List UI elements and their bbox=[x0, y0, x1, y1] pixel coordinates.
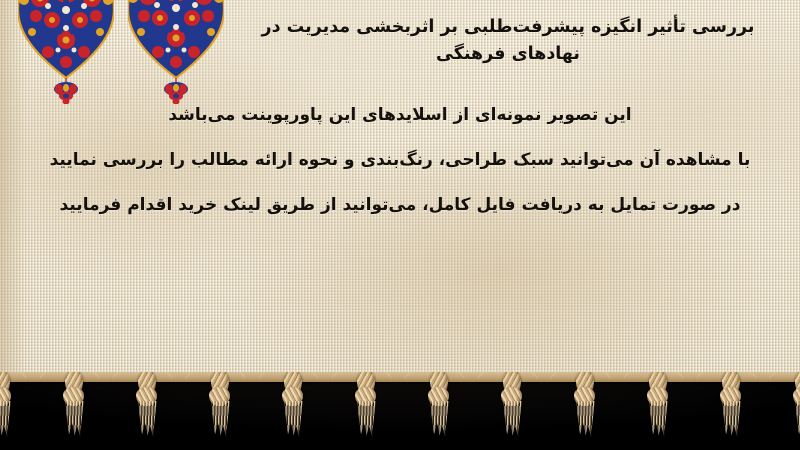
slide-text-layer: بررسی تأثیر انگیزه پیشرفت‌طلبی بر اثربخش… bbox=[0, 0, 800, 380]
fringe-tassel bbox=[718, 372, 744, 442]
fringe-tassel bbox=[280, 372, 306, 442]
fringe-tassel bbox=[645, 372, 671, 442]
tassel-skirt bbox=[210, 401, 231, 437]
tassel-skirt bbox=[137, 401, 158, 437]
body-line-1: این تصویر نمونه‌ای از اسلایدهای این پاور… bbox=[0, 104, 800, 127]
tassel-skirt bbox=[0, 401, 12, 437]
fringe-tassel bbox=[426, 372, 452, 442]
tassel-skirt bbox=[648, 401, 669, 437]
fringe-tassel bbox=[499, 372, 525, 442]
fringe-tassel bbox=[207, 372, 233, 442]
tassel-skirt bbox=[721, 401, 742, 437]
body-line-3: در صورت تمایل به دریافت فایل کامل، می‌تو… bbox=[0, 194, 800, 217]
fringe-tassel bbox=[61, 372, 87, 442]
body-line-2: با مشاهده آن می‌توانید سبک طراحی، رنگ‌بن… bbox=[0, 149, 800, 172]
presentation-slide: بررسی تأثیر انگیزه پیشرفت‌طلبی بر اثربخش… bbox=[0, 0, 800, 450]
tassel-skirt bbox=[283, 401, 304, 437]
tassel-skirt bbox=[356, 401, 377, 437]
fringe-tassel bbox=[791, 372, 800, 442]
tassel-skirt bbox=[64, 401, 85, 437]
slide-body: این تصویر نمونه‌ای از اسلایدهای این پاور… bbox=[0, 104, 800, 217]
fringe-tassel bbox=[572, 372, 598, 442]
tassel-skirt bbox=[794, 401, 800, 437]
fringe-tassel bbox=[353, 372, 379, 442]
tassel-skirt bbox=[429, 401, 450, 437]
slide-title: بررسی تأثیر انگیزه پیشرفت‌طلبی بر اثربخش… bbox=[228, 14, 788, 68]
bottom-black-band bbox=[0, 372, 800, 450]
fringe-tassel bbox=[134, 372, 160, 442]
tassel-skirt bbox=[575, 401, 596, 437]
tassel-skirt bbox=[502, 401, 523, 437]
fringe-tassel bbox=[0, 372, 14, 442]
